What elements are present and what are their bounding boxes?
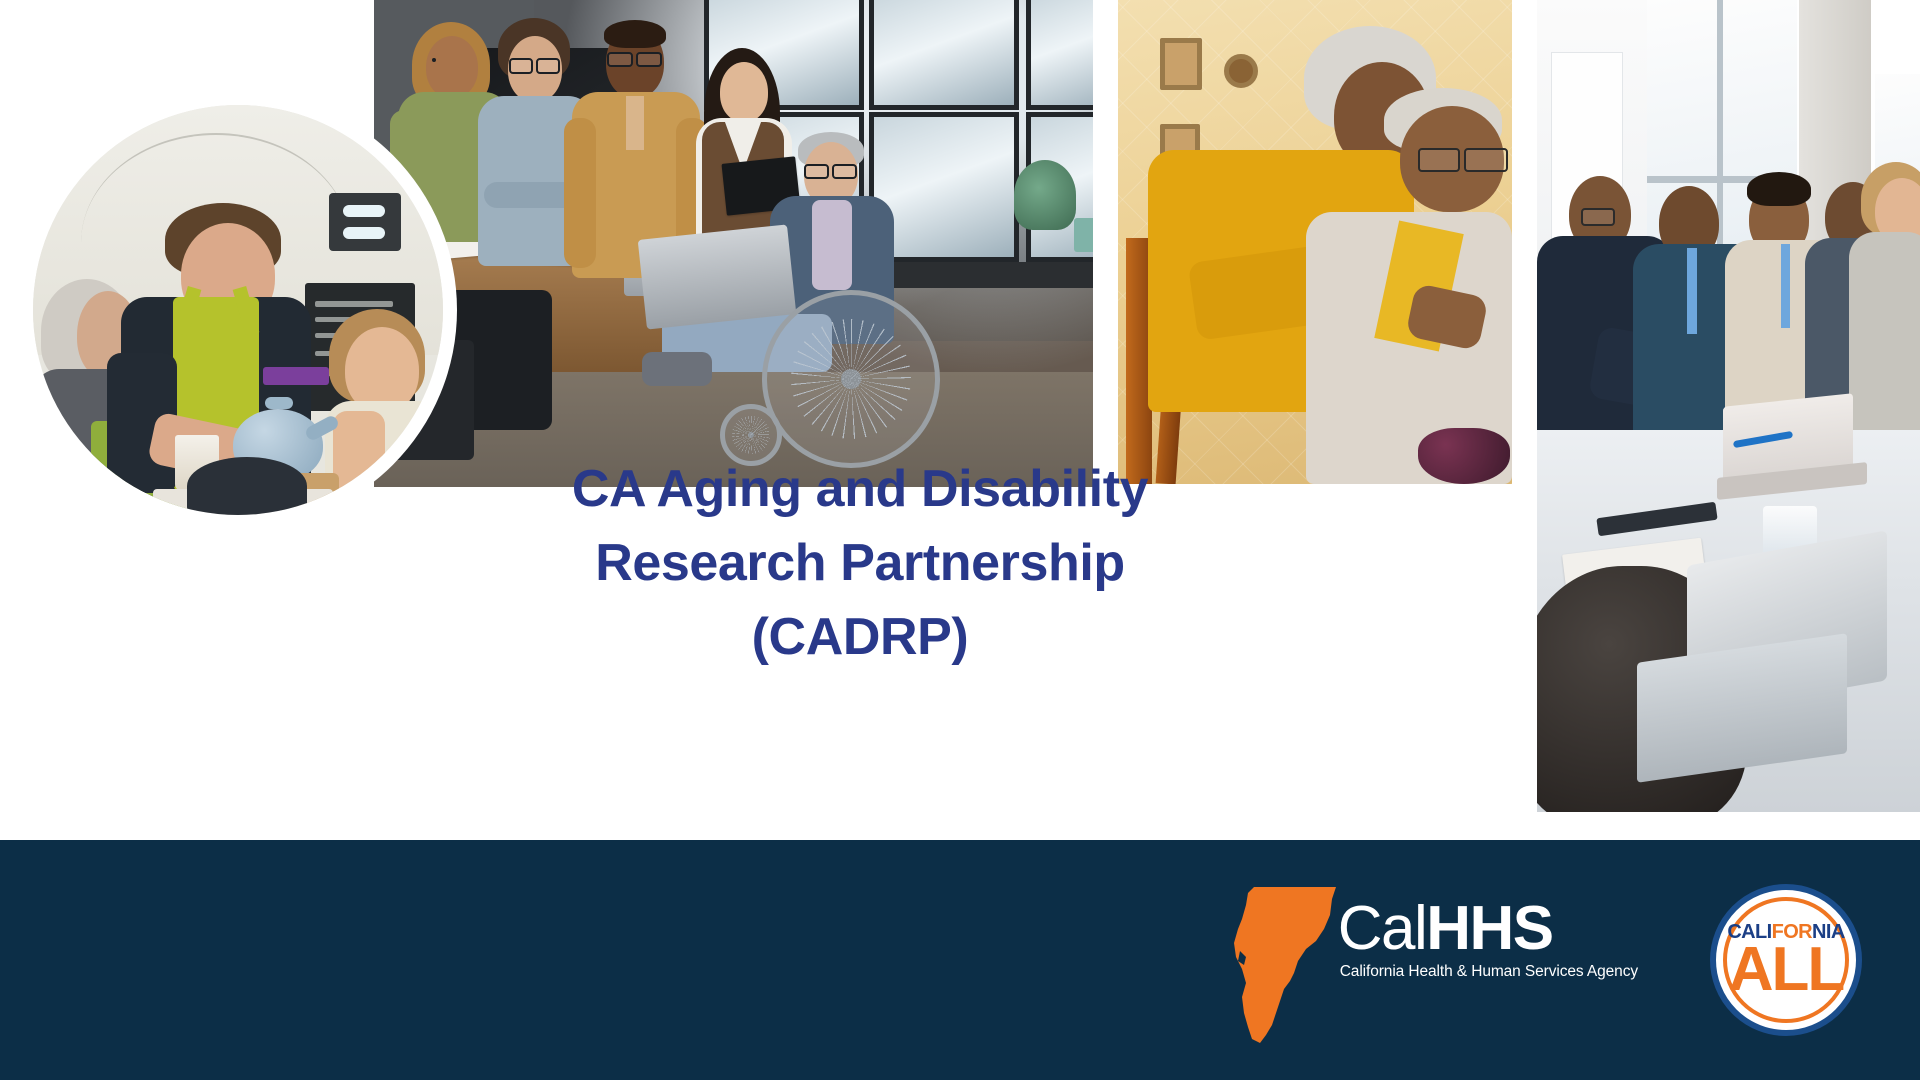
photo-conference [1537, 0, 1920, 812]
footer-logos: CalHHS California Health & Human Service… [1232, 840, 1862, 1080]
calhhs-name-cal: Cal [1338, 894, 1427, 963]
footer-bar: CalHHS California Health & Human Service… [0, 840, 1920, 1080]
title-line-1: CA Aging and Disability [430, 452, 1290, 526]
calhhs-wordmark: CalHHS California Health & Human Service… [1338, 875, 1638, 982]
calhhs-tagline: California Health & Human Services Agenc… [1338, 962, 1638, 982]
photo-couple-hug [1118, 0, 1512, 484]
photo-group-meeting [374, 0, 1093, 487]
slide-title: CA Aging and Disability Research Partner… [430, 452, 1290, 674]
wheelchair-wheel [762, 290, 940, 468]
photo-couple-hug-scene [1118, 0, 1512, 484]
photo-conference-scene [1537, 0, 1920, 812]
calhhs-logo: CalHHS California Health & Human Service… [1232, 875, 1638, 1045]
california-all-all: ALL [1716, 941, 1856, 999]
title-line-2: Research Partnership [430, 526, 1290, 600]
california-state-icon [1232, 885, 1348, 1045]
california-all-text: CALIFORNIA ALL [1716, 921, 1856, 999]
calhhs-name: CalHHS [1338, 897, 1638, 961]
california-all-logo: CALIFORNIA ALL [1710, 884, 1862, 1036]
title-slide: CA Aging and Disability Research Partner… [0, 0, 1920, 1080]
title-line-3: (CADRP) [430, 600, 1290, 674]
photo-cafe-circle [33, 105, 443, 515]
calhhs-name-hhs: HHS [1426, 894, 1552, 963]
photo-group-meeting-scene [374, 0, 1093, 487]
